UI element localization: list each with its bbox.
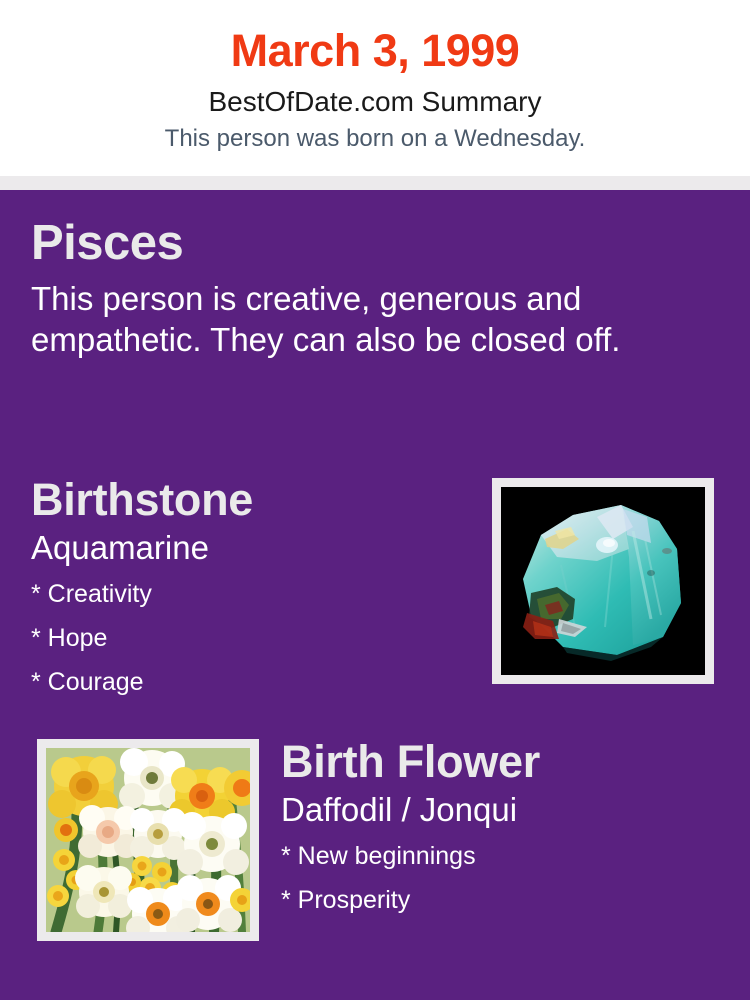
page-title: March 3, 1999	[0, 0, 750, 80]
zodiac-sign-title: Pisces	[31, 214, 721, 272]
list-item: * Prosperity	[281, 878, 731, 922]
birthflower-section: Birth Flower Daffodil / Jonqui * New beg…	[281, 735, 731, 922]
header-divider	[0, 176, 750, 190]
born-weekday-text: This person was born on a Wednesday.	[0, 119, 750, 154]
birthstone-image-frame	[492, 478, 714, 684]
daffodil-flowers-image	[46, 748, 250, 932]
card-header: March 3, 1999 BestOfDate.com Summary Thi…	[0, 0, 750, 176]
birthstone-traits-list: * Creativity * Hope * Courage	[31, 568, 471, 704]
list-item: * Hope	[31, 616, 471, 660]
birthstone-section: Birthstone Aquamarine * Creativity * Hop…	[31, 473, 471, 704]
list-item: * Courage	[31, 660, 471, 704]
birthstone-title: Birthstone	[31, 473, 471, 527]
summary-card: March 3, 1999 BestOfDate.com Summary Thi…	[0, 0, 750, 1000]
zodiac-section: Pisces This person is creative, generous…	[31, 214, 721, 360]
birthflower-traits-list: * New beginnings * Prosperity	[281, 830, 731, 922]
zodiac-description: This person is creative, generous and em…	[31, 272, 701, 360]
birthflower-name: Daffodil / Jonqui	[281, 789, 731, 830]
birthflower-image-frame	[37, 739, 259, 941]
aquamarine-crystal-image	[501, 487, 705, 675]
birthstone-image-inner	[501, 487, 705, 675]
list-item: * Creativity	[31, 572, 471, 616]
site-name: BestOfDate.com Summary	[0, 80, 750, 119]
list-item: * New beginnings	[281, 834, 731, 878]
birthflower-title: Birth Flower	[281, 735, 731, 789]
birthstone-name: Aquamarine	[31, 527, 471, 568]
birthflower-image-inner	[46, 748, 250, 932]
